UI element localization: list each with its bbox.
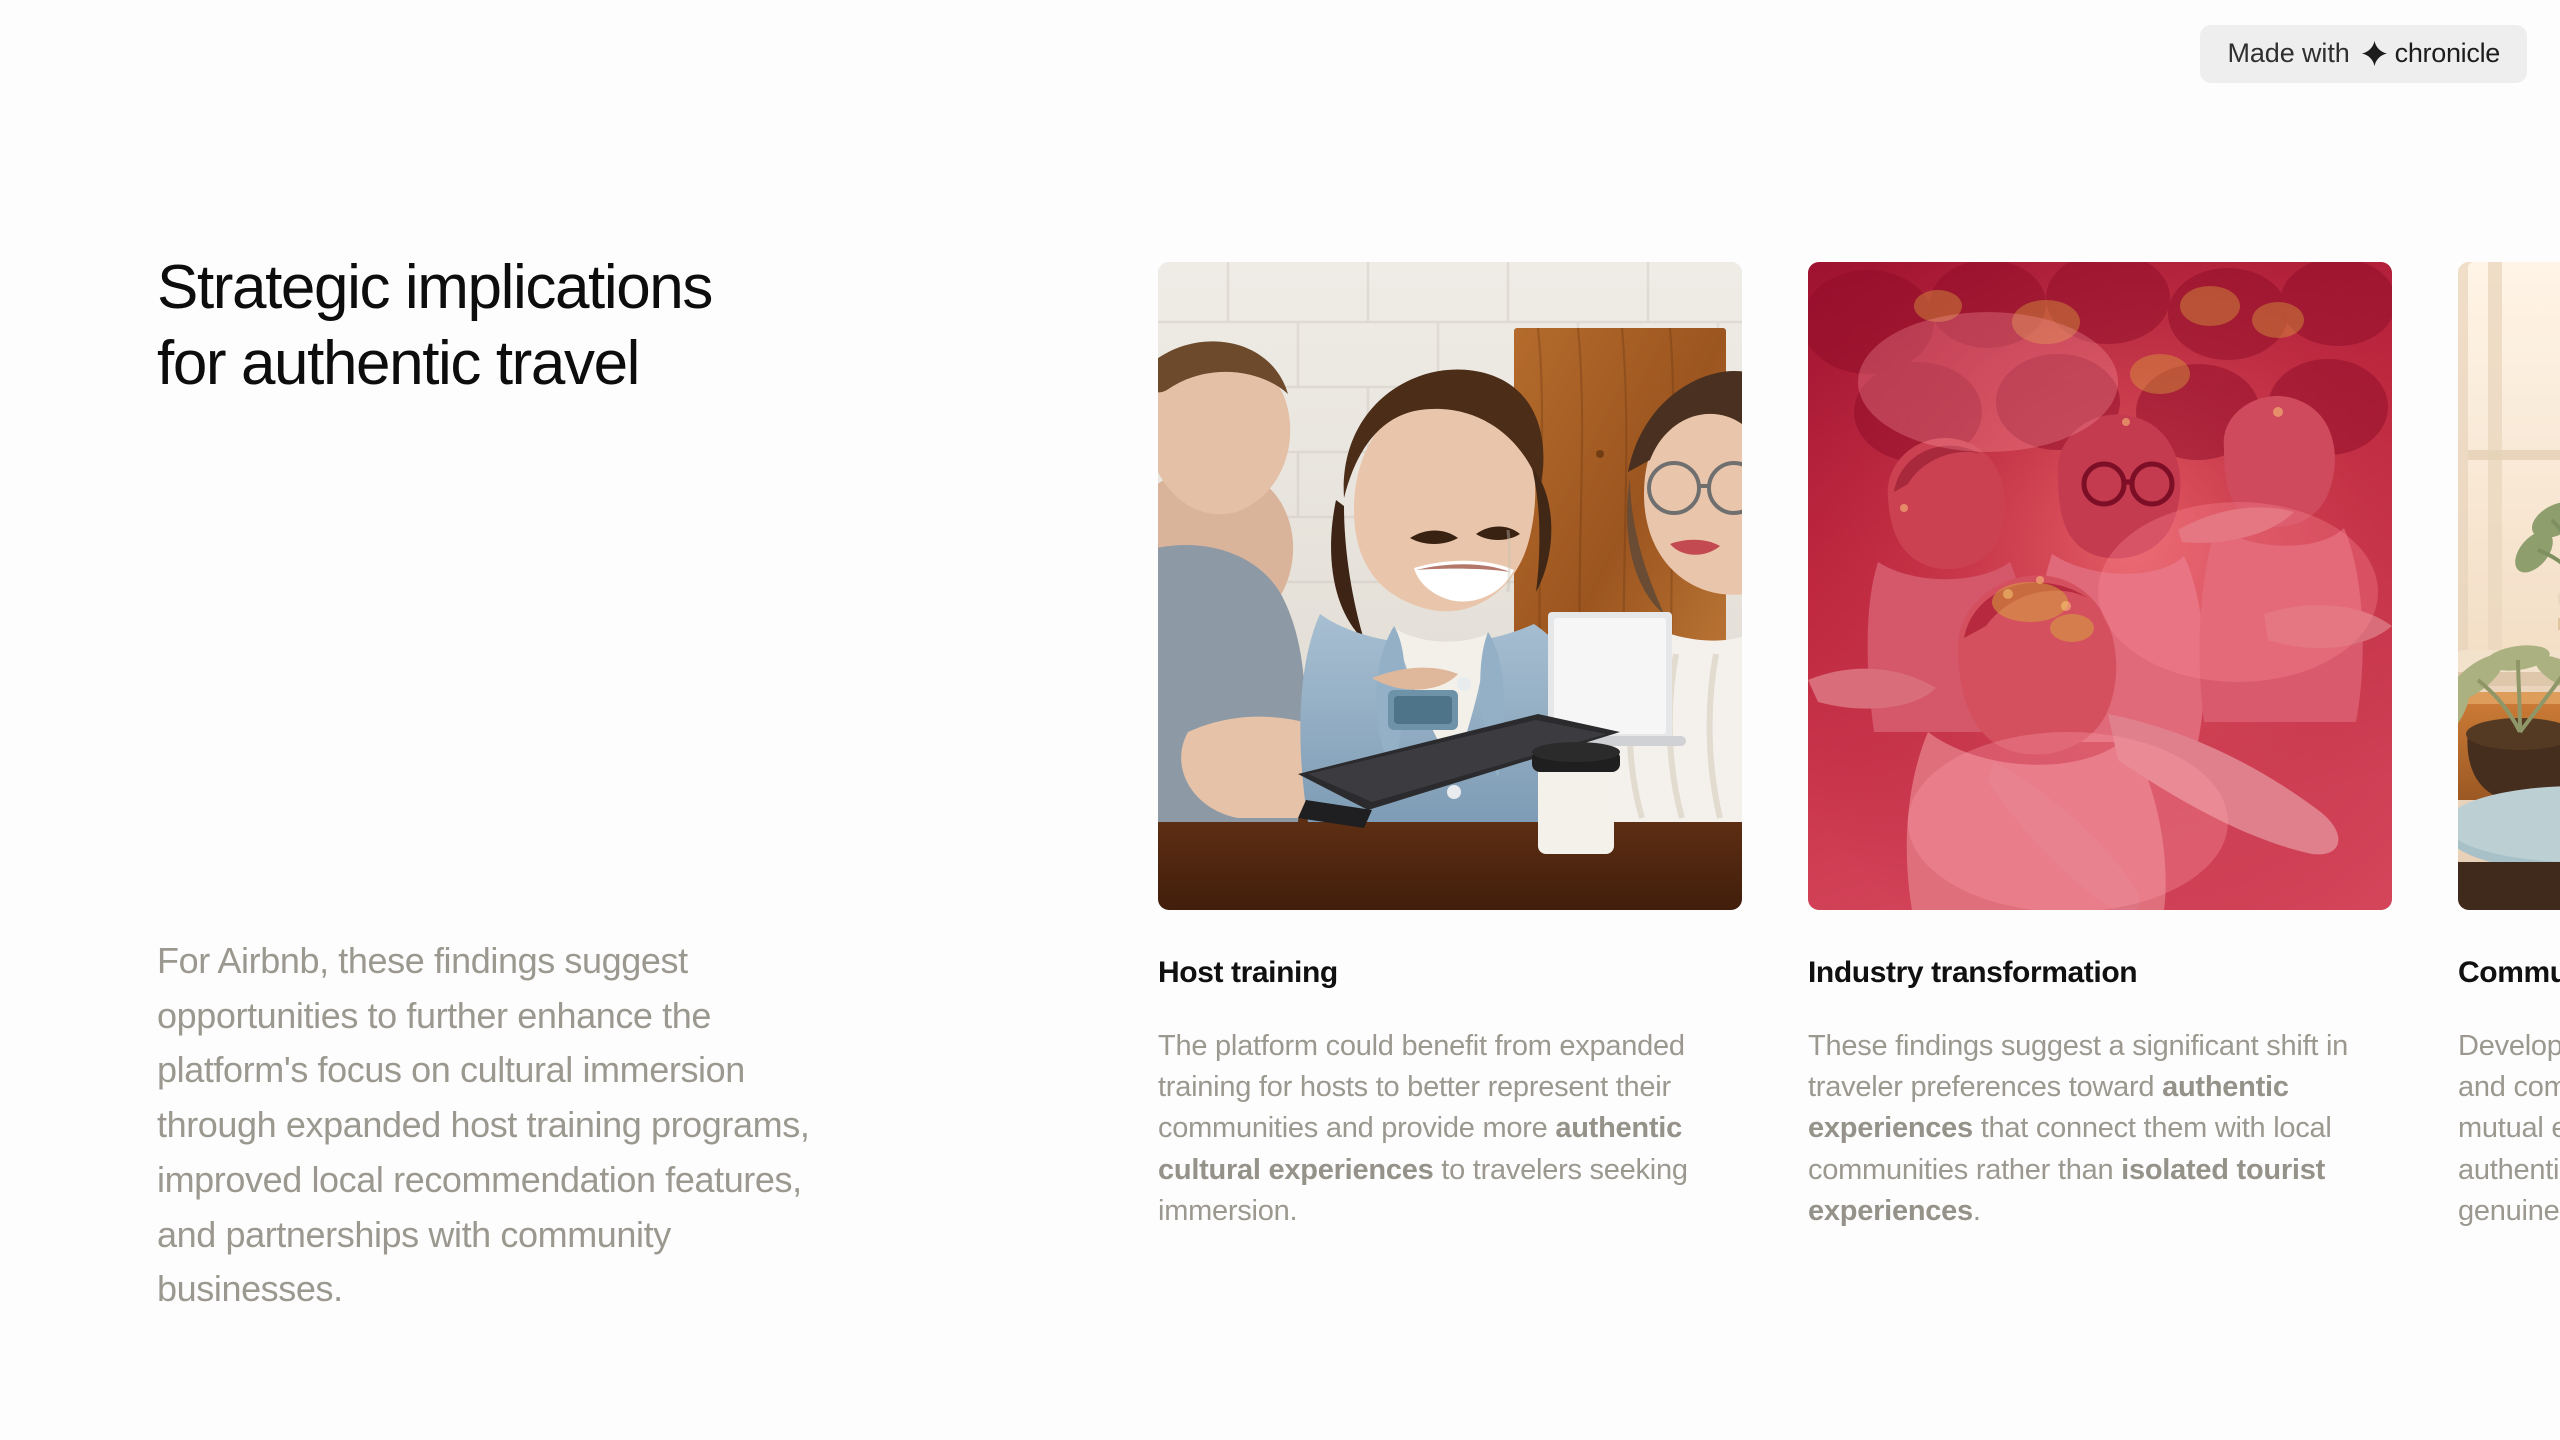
warm-interior-window-photo bbox=[2458, 262, 2560, 910]
insight-card[interactable]: Industry transformation These findings s… bbox=[1808, 262, 2392, 1232]
chronicle-brand: chronicle bbox=[2361, 38, 2500, 69]
insight-card[interactable]: Community partnerships Developing partne… bbox=[2458, 262, 2560, 1232]
chronicle-wordmark: chronicle bbox=[2395, 38, 2500, 69]
slide-canvas: Made with chronicle Strategic implicatio… bbox=[0, 0, 2560, 1440]
card-body: Developing partnerships with local busin… bbox=[2458, 1026, 2560, 1232]
intro-paragraph: For Airbnb, these findings suggest oppor… bbox=[157, 934, 857, 1317]
page-title: Strategic implications for authentic tra… bbox=[157, 250, 967, 401]
badge-made-with-label: Made with bbox=[2227, 38, 2349, 69]
made-with-chronicle-badge[interactable]: Made with chronicle bbox=[2200, 25, 2527, 83]
card-title: Industry transformation bbox=[1808, 956, 2392, 990]
hosts-collaborating-photo bbox=[1158, 262, 1742, 910]
insight-card[interactable]: Host training The platform could benefit… bbox=[1158, 262, 1742, 1232]
card-body: These findings suggest a significant shi… bbox=[1808, 1026, 2392, 1232]
sparkle-icon bbox=[2361, 40, 2388, 67]
insight-card-strip: Host training The platform could benefit… bbox=[1158, 262, 2560, 1232]
holi-festival-crowd-photo bbox=[1808, 262, 2392, 910]
card-body: The platform could benefit from expanded… bbox=[1158, 1026, 1742, 1232]
card-title: Community partnerships bbox=[2458, 956, 2560, 990]
card-title: Host training bbox=[1158, 956, 1742, 990]
headline-block: Strategic implications for authentic tra… bbox=[157, 250, 967, 401]
